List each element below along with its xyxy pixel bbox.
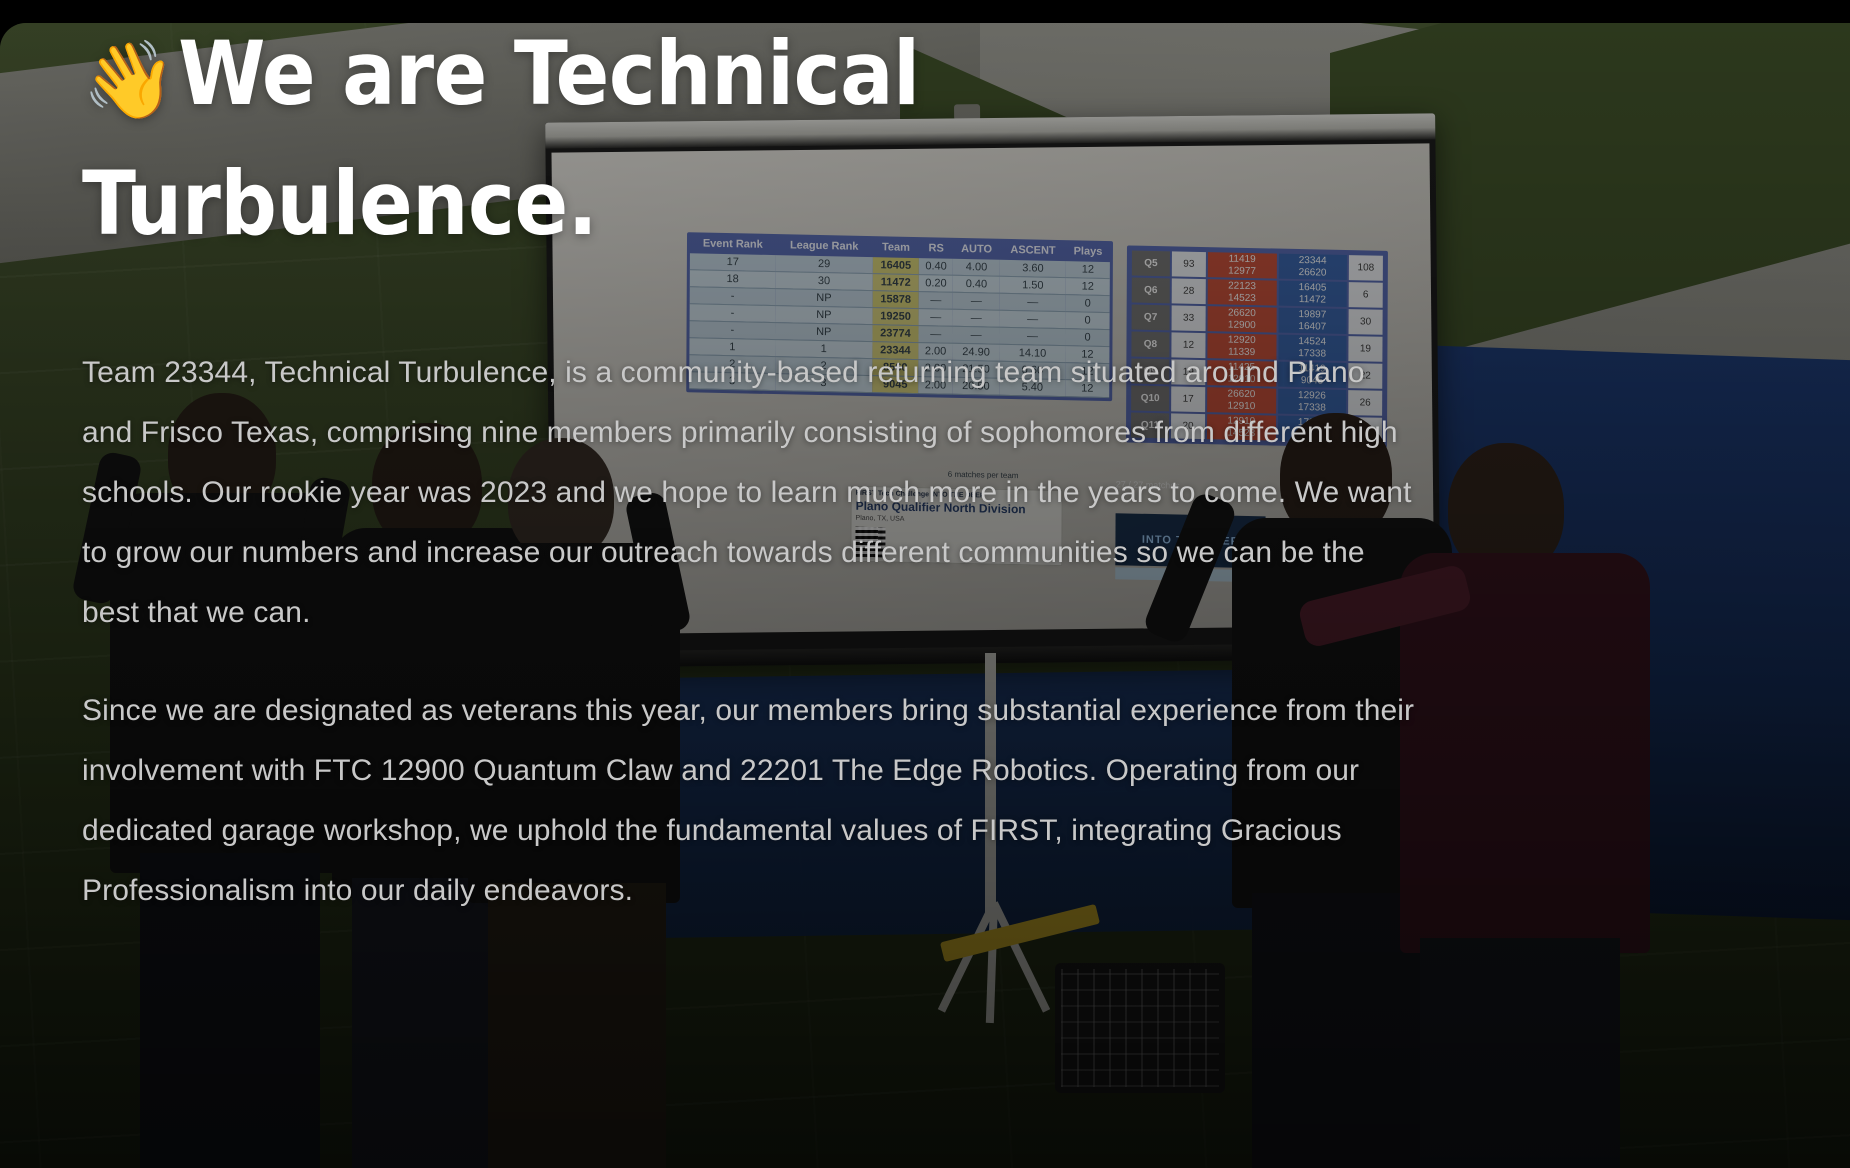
cell: NP (775, 305, 872, 324)
cell: — (953, 326, 1000, 344)
cell: - (690, 286, 776, 305)
cell-score: 33 (1172, 305, 1206, 331)
cell-red-alliance: 22123 14523 (1208, 279, 1277, 305)
cell: - (689, 320, 775, 339)
intro-paragraph-2: Since we are designated as veterans this… (82, 681, 1418, 921)
cell: — (919, 308, 953, 326)
cell-blue-alliance: 16405 11472 (1278, 281, 1347, 307)
cell-total: 6 (1349, 282, 1383, 308)
cell-team: 11472 (873, 273, 919, 291)
cell: - (690, 303, 776, 322)
cell: 0 (1066, 311, 1110, 329)
cell: — (919, 291, 953, 309)
cell-total: 30 (1349, 309, 1383, 335)
table-row: Q62822123 1452316405 114726 (1132, 278, 1383, 308)
cell: 0 (1066, 294, 1110, 312)
cell-score: 28 (1172, 278, 1206, 304)
cell-red-alliance: 26620 12900 (1208, 306, 1277, 332)
cell: — (919, 325, 953, 343)
table-row: Q73326620 1290019897 1640730 (1132, 305, 1383, 335)
cell: NP (775, 288, 872, 307)
robot-frame-grid (1061, 969, 1219, 1087)
cell-team: 15878 (872, 290, 918, 308)
cell: NP (775, 322, 872, 341)
cell: 30 (775, 271, 872, 290)
person-3-legs (488, 883, 666, 1168)
cell-match: Q7 (1132, 305, 1170, 331)
cell: — (953, 292, 1000, 310)
cell: 18 (690, 269, 776, 288)
page-frame: Event Rank League Rank Team RS AUTO ASCE… (0, 23, 1850, 1168)
cell-blue-alliance: 19897 16407 (1278, 308, 1347, 334)
cell: 1.50 (1000, 276, 1066, 294)
page-title-text: We are Technical Turbulence. (82, 23, 920, 255)
cell: 12 (1066, 277, 1110, 295)
cell: — (1000, 293, 1066, 311)
waving-hand-icon: 👋 (82, 35, 176, 124)
screenshot-viewport: Event Rank League Rank Team RS AUTO ASCE… (0, 0, 1850, 1168)
cell-match: Q6 (1132, 278, 1170, 304)
cell: 0.40 (953, 275, 1000, 293)
cell-team: 19250 (872, 307, 918, 325)
cell: — (1000, 310, 1066, 328)
intro-paragraph-1: Team 23344, Technical Turbulence, is a c… (82, 343, 1418, 643)
cell-team: 23774 (872, 324, 918, 342)
cell: 0.20 (919, 274, 953, 292)
person-5-legs (1420, 938, 1620, 1168)
robot (1055, 963, 1225, 1093)
cell: — (953, 309, 1000, 327)
page-title: 👋We are Technical Turbulence. (82, 23, 1382, 269)
